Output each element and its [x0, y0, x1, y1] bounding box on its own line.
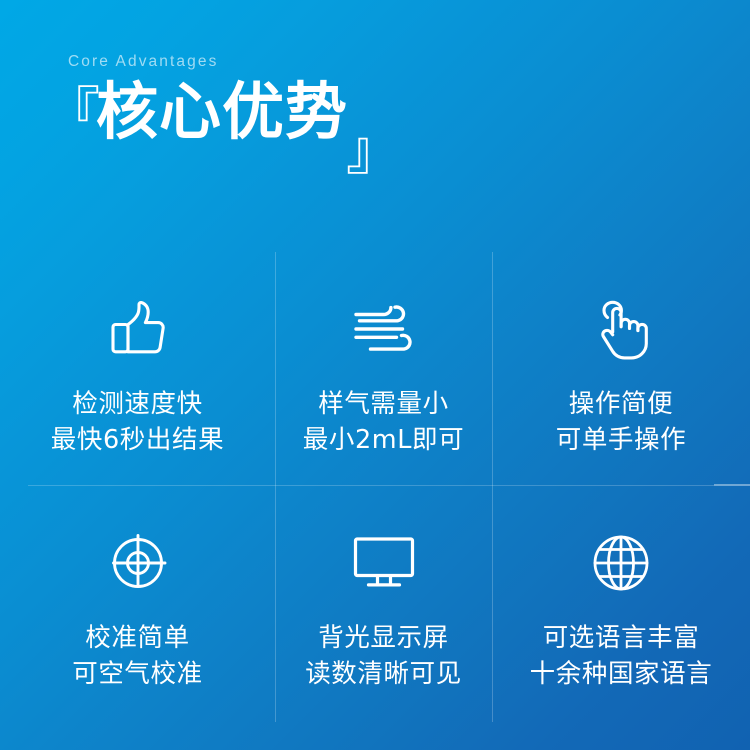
eyebrow-label: Core Advantages: [68, 54, 708, 70]
caption-line-1: 校准简单: [72, 620, 203, 656]
feature-caption: 样气需量小 最小2mL即可: [303, 386, 464, 458]
wind-icon: [348, 296, 420, 362]
caption-line-2: 最小2mL即可: [303, 422, 464, 458]
feature-cell-speed: 检测速度快 最快6秒出结果: [0, 248, 275, 485]
feature-caption: 检测速度快 最快6秒出结果: [51, 386, 224, 458]
feature-cell-display: 背光显示屏 读数清晰可见: [275, 485, 492, 726]
poster-header: Core Advantages 『 核心优势 』: [68, 54, 708, 143]
core-advantages-poster: Core Advantages 『 核心优势 』 检测速度快 最快6秒出结果: [0, 0, 750, 750]
feature-grid: 检测速度快 最快6秒出结果 样气需量小 最小2mL即可: [0, 248, 750, 726]
monitor-display-icon: [348, 530, 420, 596]
caption-line-2: 读数清晰可见: [305, 656, 462, 692]
caption-line-2: 十余种国家语言: [530, 656, 713, 692]
caption-line-1: 可选语言丰富: [530, 620, 713, 656]
feature-cell-languages: 可选语言丰富 十余种国家语言: [492, 485, 750, 726]
feature-caption: 操作简便 可单手操作: [556, 386, 687, 458]
feature-caption: 校准简单 可空气校准: [72, 620, 203, 692]
caption-line-2: 可单手操作: [556, 422, 687, 458]
feature-cell-calibration: 校准简单 可空气校准: [0, 485, 275, 726]
feature-cell-sample-volume: 样气需量小 最小2mL即可: [275, 248, 492, 485]
caption-line-1: 样气需量小: [303, 386, 464, 422]
tap-hand-icon: [585, 296, 657, 362]
globe-icon: [585, 530, 657, 596]
feature-cell-easy-operation: 操作简便 可单手操作: [492, 248, 750, 485]
caption-line-2: 最快6秒出结果: [51, 422, 224, 458]
caption-line-2: 可空气校准: [72, 656, 203, 692]
caption-line-1: 操作简便: [556, 386, 687, 422]
thumbs-up-icon: [102, 296, 174, 362]
feature-caption: 可选语言丰富 十余种国家语言: [530, 620, 713, 692]
crosshair-target-icon: [102, 530, 174, 596]
close-bracket-glyph: 』: [346, 124, 400, 178]
feature-caption: 背光显示屏 读数清晰可见: [305, 620, 462, 692]
open-bracket-glyph: 『: [46, 86, 100, 140]
caption-line-1: 检测速度快: [51, 386, 224, 422]
page-title: 『 核心优势 』: [46, 80, 708, 143]
title-text: 核心优势: [96, 80, 348, 143]
caption-line-1: 背光显示屏: [305, 620, 462, 656]
